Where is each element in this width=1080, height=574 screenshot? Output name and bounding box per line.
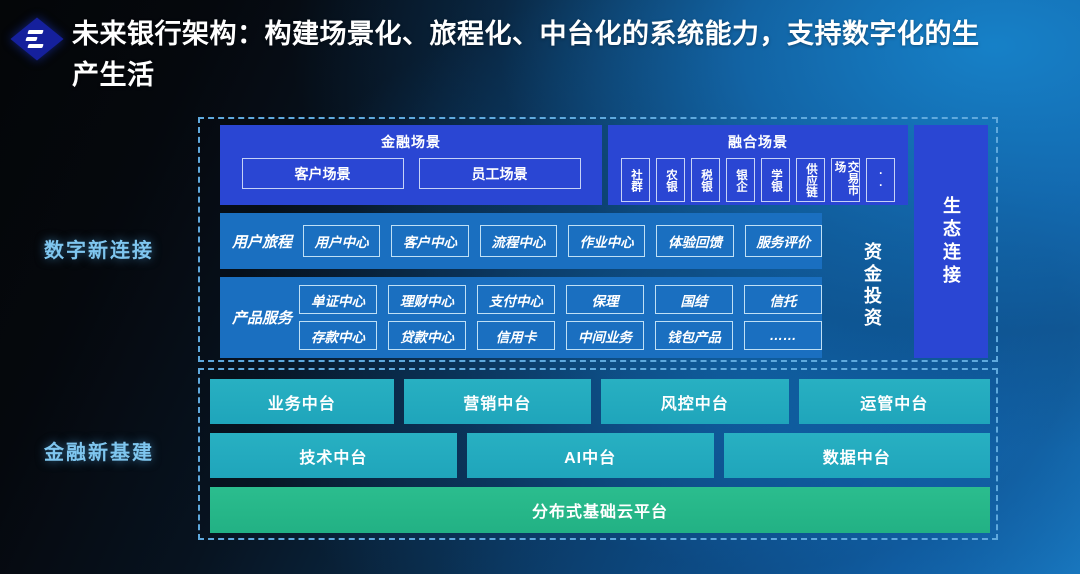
middle-platform-row-1: 业务中台 营销中台 风控中台 运管中台 [210,379,990,424]
product-service-grid: 单证中心 理财中心 支付中心 保理 国结 信托 存款中心 贷款中心 信用卡 中间… [299,285,822,350]
user-journey-row: 用户旅程 用户中心 客户中心 流程中心 作业中心 体验回馈 服务评价 [220,213,822,269]
scenario-row: 金融场景 客户场景 员工场景 融合场景 社群 农银 税银 银企 学银 供应链 [206,125,994,205]
journey-item-operation-center[interactable]: 作业中心 [568,225,645,257]
platform-data-middle[interactable]: 数据中台 [724,433,991,478]
user-journey-label: 用户旅程 [232,231,292,252]
journey-item-user-center[interactable]: 用户中心 [303,225,380,257]
financial-scenario-items: 客户场景 员工场景 [220,158,602,189]
fusion-item-supply-chain[interactable]: 供应链 [796,158,825,202]
fusion-item-bank-enterprise[interactable]: 银企 [726,158,755,202]
slide-header: 未来银行架构：构建场景化、旅程化、中台化的系统能力，支持数字化的生产生活 [0,0,1080,108]
product-item-intermediary-business[interactable]: 中间业务 [566,321,644,350]
logo-slash-icon [25,37,37,41]
fusion-scenario-items: 社群 农银 税银 银企 学银 供应链 交易市场 ·· [608,158,908,202]
page-title: 未来银行架构：构建场景化、旅程化、中台化的系统能力，支持数字化的生产生活 [72,14,1002,96]
fusion-item-ellipsis[interactable]: ·· [866,158,895,202]
digital-connection-panel: 金融场景 客户场景 员工场景 融合场景 社群 农银 税银 银企 学银 供应链 [198,117,998,362]
financial-scenario-title: 金融场景 [220,132,602,152]
journey-item-customer-center[interactable]: 客户中心 [391,225,468,257]
platform-risk-control-middle[interactable]: 风控中台 [601,379,789,424]
product-item-trust[interactable]: 信托 [744,285,822,314]
middle-platform-row-2: 技术中台 AI中台 数据中台 [210,433,990,478]
section-label-financial-infrastructure: 金融新基建 [44,436,154,465]
logo-diamond-shape [10,17,63,60]
fusion-item-edu-bank[interactable]: 学银 [761,158,790,202]
financial-infrastructure-content: 业务中台 营销中台 风控中台 运管中台 技术中台 AI中台 数据中台 分布式基础… [210,379,990,533]
fusion-item-agri-bank[interactable]: 农银 [656,158,685,202]
fusion-scenario-group: 融合场景 社群 农银 税银 银企 学银 供应链 交易市场 ·· [608,125,908,205]
product-item-deposit-center[interactable]: 存款中心 [299,321,377,350]
slide-root: 未来银行架构：构建场景化、旅程化、中台化的系统能力，支持数字化的生产生活 数字新… [0,0,1080,574]
product-item-wallet-product[interactable]: 钱包产品 [655,321,733,350]
product-service-line-2: 存款中心 贷款中心 信用卡 中间业务 钱包产品 …… [299,321,822,350]
product-service-label: 产品服务 [232,307,299,328]
fusion-scenario-title: 融合场景 [608,132,908,152]
platform-technology-middle[interactable]: 技术中台 [210,433,457,478]
product-item-payment-center[interactable]: 支付中心 [477,285,555,314]
column-ecosystem-connection[interactable]: 生态连接 [914,125,988,358]
product-item-ellipsis[interactable]: …… [744,321,822,350]
digital-connection-content: 金融场景 客户场景 员工场景 融合场景 社群 农银 税银 银企 学银 供应链 [206,125,994,358]
journey-item-experience-feedback[interactable]: 体验回馈 [656,225,733,257]
logo-slash-icon [27,30,43,34]
financial-infrastructure-panel: 业务中台 营销中台 风控中台 运管中台 技术中台 AI中台 数据中台 分布式基础… [198,368,998,540]
platform-business-middle[interactable]: 业务中台 [210,379,394,424]
product-item-credit-card[interactable]: 信用卡 [477,321,555,350]
product-item-document-center[interactable]: 单证中心 [299,285,377,314]
fusion-item-tax-bank[interactable]: 税银 [691,158,720,202]
scenario-item-employee[interactable]: 员工场景 [419,158,581,189]
product-item-wealth-center[interactable]: 理财中心 [388,285,466,314]
product-item-factoring[interactable]: 保理 [566,285,644,314]
fusion-item-trading-market[interactable]: 交易市场 [831,158,860,202]
financial-scenario-group: 金融场景 客户场景 员工场景 [220,125,602,205]
fusion-item-community[interactable]: 社群 [621,158,650,202]
platform-operations-middle[interactable]: 运管中台 [799,379,990,424]
platform-ai-middle[interactable]: AI中台 [467,433,714,478]
logo-slash-icon [27,44,43,48]
distributed-cloud-platform-bar[interactable]: 分布式基础云平台 [210,487,990,533]
product-item-loan-center[interactable]: 贷款中心 [388,321,466,350]
journey-item-service-rating[interactable]: 服务评价 [745,225,822,257]
product-item-intl-settlement[interactable]: 国结 [655,285,733,314]
journey-item-process-center[interactable]: 流程中心 [480,225,557,257]
platform-marketing-middle[interactable]: 营销中台 [404,379,592,424]
scenario-item-customer[interactable]: 客户场景 [242,158,404,189]
section-label-digital-connection: 数字新连接 [44,234,154,263]
product-service-line-1: 单证中心 理财中心 支付中心 保理 国结 信托 [299,285,822,314]
company-logo [16,18,60,62]
product-service-row: 产品服务 单证中心 理财中心 支付中心 保理 国结 信托 存款中心 贷款中心 信… [220,277,822,358]
column-fund-investment: 资金投资 [836,213,908,358]
